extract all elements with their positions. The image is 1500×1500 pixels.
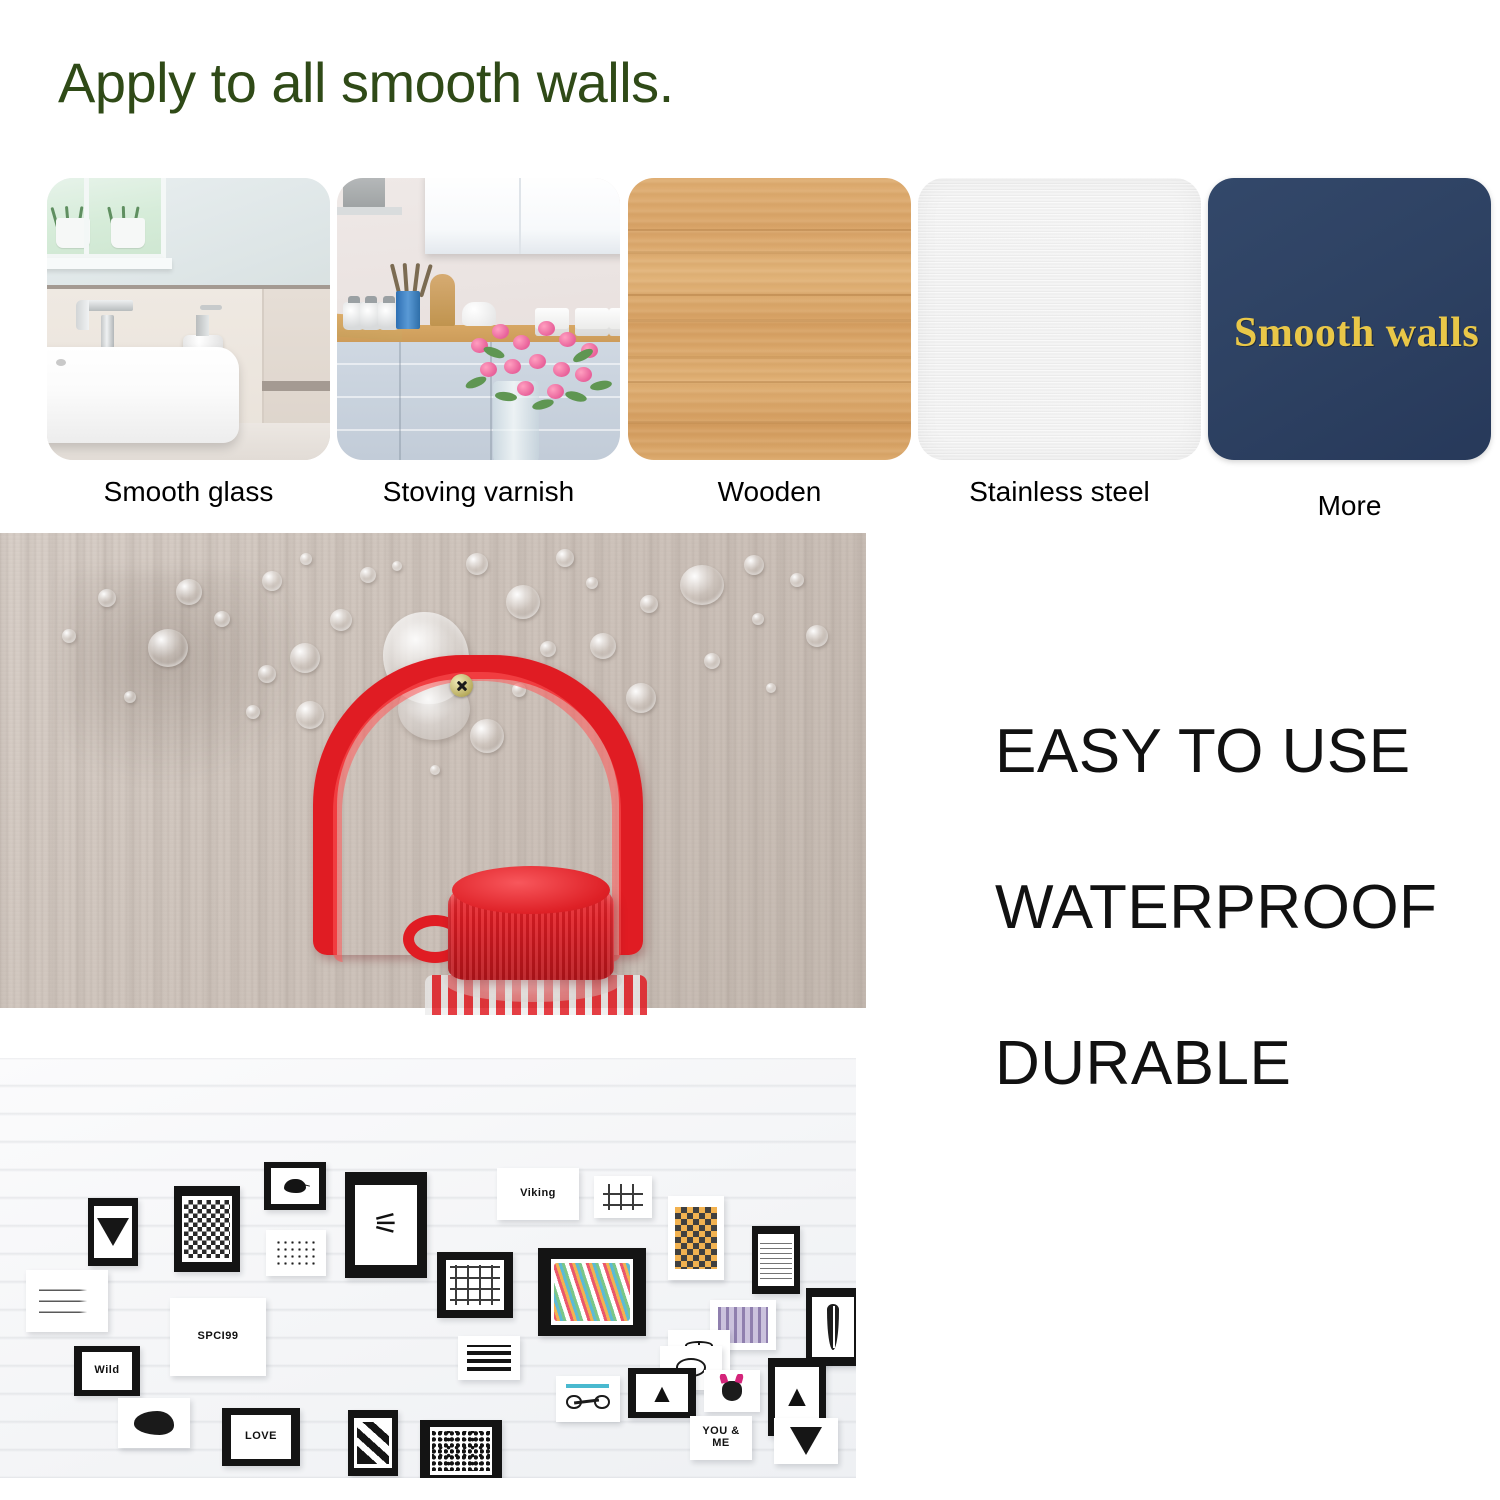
frame-artwork: Wild bbox=[82, 1352, 132, 1390]
picture-frame bbox=[668, 1196, 724, 1280]
surface-tile-more[interactable]: Smooth walls More bbox=[1208, 178, 1491, 460]
frame-mat bbox=[551, 1259, 633, 1326]
frame-artwork bbox=[464, 1340, 514, 1375]
picture-frame bbox=[88, 1198, 138, 1266]
frame-mat bbox=[94, 1206, 132, 1258]
picture-frame bbox=[538, 1248, 646, 1336]
picture-frame bbox=[266, 1230, 326, 1276]
frame-artwork bbox=[182, 1196, 232, 1261]
frame-mat: SPCI99 bbox=[180, 1306, 257, 1368]
surface-tile-stoving-varnish[interactable]: Stoving varnish bbox=[337, 178, 620, 460]
surface-tiles-row: Smooth glass bbox=[0, 178, 1500, 518]
frame-artwork: YOU & ME bbox=[696, 1420, 746, 1455]
frame-artwork bbox=[780, 1423, 831, 1460]
frame-artwork: ▲ bbox=[636, 1374, 688, 1412]
picture-frame bbox=[752, 1226, 800, 1294]
frame-mat bbox=[271, 1168, 318, 1204]
picture-frame bbox=[806, 1288, 856, 1366]
frame-artwork bbox=[430, 1427, 492, 1474]
frame-mat: Wild bbox=[82, 1352, 132, 1390]
surface-tile-label: More bbox=[1208, 490, 1491, 522]
frame-artwork bbox=[600, 1180, 646, 1214]
picture-frame bbox=[348, 1410, 398, 1476]
frame-mat: ▲ bbox=[636, 1374, 688, 1412]
page-title: Apply to all smooth walls. bbox=[58, 50, 674, 115]
frame-artwork bbox=[812, 1297, 853, 1356]
frame-artwork bbox=[272, 1235, 320, 1272]
feature-durable: DURABLE bbox=[995, 1028, 1291, 1099]
frame-mat bbox=[600, 1180, 646, 1214]
frame-mat bbox=[272, 1235, 320, 1272]
surface-tile-wooden[interactable]: Wooden bbox=[628, 178, 911, 460]
picture-frame: ▲ bbox=[628, 1368, 696, 1418]
frame-artwork: LOVE bbox=[231, 1415, 290, 1459]
frame-mat bbox=[464, 1340, 514, 1375]
surface-tile-smooth-glass[interactable]: Smooth glass bbox=[47, 178, 330, 460]
frame-artwork bbox=[710, 1374, 755, 1408]
picture-frame: SPCI99 bbox=[170, 1298, 266, 1376]
red-bottle-cap-top bbox=[452, 866, 610, 914]
frame-mat bbox=[446, 1260, 504, 1310]
kitchen-cabinets-photo bbox=[337, 178, 620, 460]
photo-frame-gallery-wall: ⚟VikingSPCI99Wild▲▲LOVEYOU & ME bbox=[0, 1058, 856, 1478]
picture-frame: YOU & ME bbox=[690, 1416, 752, 1460]
frame-artwork bbox=[446, 1260, 504, 1310]
frame-mat bbox=[182, 1196, 232, 1261]
surface-tile-label: Stainless steel bbox=[918, 476, 1201, 508]
frame-mat bbox=[710, 1374, 755, 1408]
frame-artwork: SPCI99 bbox=[180, 1306, 257, 1368]
frame-artwork bbox=[551, 1259, 633, 1326]
frame-mat bbox=[34, 1276, 100, 1326]
picture-frame: Wild bbox=[74, 1346, 140, 1396]
frame-artwork bbox=[354, 1418, 392, 1468]
picture-frame: ⚟ bbox=[345, 1172, 427, 1278]
infographic-page: Apply to all smooth walls. bbox=[0, 0, 1500, 1500]
picture-frame: LOVE bbox=[222, 1408, 300, 1466]
frame-artwork bbox=[758, 1234, 794, 1286]
frame-mat bbox=[674, 1204, 719, 1271]
frame-mat: LOVE bbox=[231, 1415, 290, 1459]
surface-tile-label: Wooden bbox=[628, 476, 911, 508]
picture-frame bbox=[118, 1398, 190, 1448]
frame-mat bbox=[758, 1234, 794, 1286]
bathroom-sink-photo bbox=[47, 178, 330, 460]
surface-tile-label: Stoving varnish bbox=[337, 476, 620, 508]
frame-artwork: ⚟ bbox=[355, 1185, 417, 1266]
frame-mat bbox=[780, 1423, 831, 1460]
picture-frame bbox=[556, 1376, 620, 1422]
frame-mat bbox=[562, 1381, 613, 1418]
frame-mat bbox=[354, 1418, 392, 1468]
picture-frame bbox=[420, 1420, 502, 1478]
feature-easy-to-use: EASY TO USE bbox=[995, 716, 1411, 787]
picture-frame bbox=[174, 1186, 240, 1272]
picture-frame bbox=[594, 1176, 652, 1218]
frame-mat bbox=[125, 1403, 183, 1443]
frame-artwork bbox=[674, 1204, 719, 1271]
frame-artwork bbox=[34, 1276, 100, 1326]
frame-artwork bbox=[562, 1381, 613, 1418]
picture-frame bbox=[26, 1270, 108, 1332]
brushed-steel-swatch bbox=[918, 178, 1201, 460]
frame-artwork: Viking bbox=[505, 1173, 571, 1215]
feature-waterproof: WATERPROOF bbox=[995, 872, 1437, 943]
picture-frame bbox=[704, 1370, 760, 1412]
frame-mat: ⚟ bbox=[355, 1185, 417, 1266]
picture-frame: Viking bbox=[497, 1168, 579, 1220]
picture-frame bbox=[437, 1252, 513, 1318]
frame-mat: Viking bbox=[505, 1173, 571, 1215]
surface-tile-label: Smooth glass bbox=[47, 476, 330, 508]
frame-artwork bbox=[271, 1168, 318, 1204]
frame-artwork bbox=[125, 1403, 183, 1443]
wood-grain-swatch bbox=[628, 178, 911, 460]
frame-mat: YOU & ME bbox=[696, 1420, 746, 1455]
navy-plaque-overlay-text: Smooth walls bbox=[1234, 309, 1479, 357]
picture-frame bbox=[774, 1418, 838, 1464]
frame-mat bbox=[812, 1297, 853, 1356]
picture-frame bbox=[458, 1336, 520, 1380]
picture-frame bbox=[264, 1162, 326, 1210]
surface-tile-stainless-steel[interactable]: Stainless steel bbox=[918, 178, 1201, 460]
frame-mat bbox=[430, 1427, 492, 1474]
screw-icon bbox=[450, 674, 473, 697]
frame-artwork bbox=[94, 1206, 132, 1258]
